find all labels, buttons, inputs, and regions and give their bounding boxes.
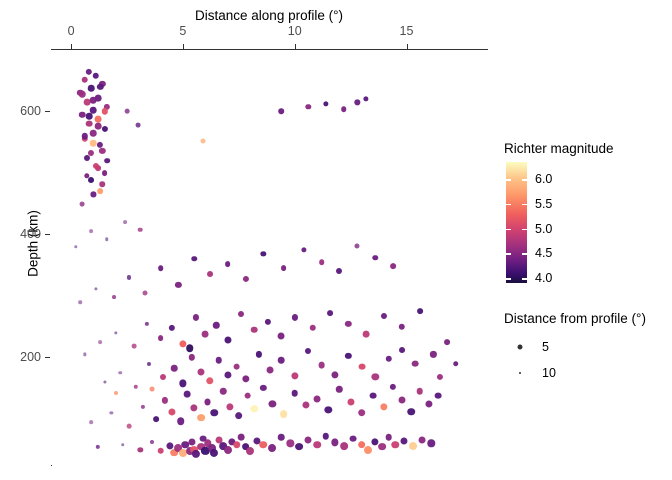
data-point — [110, 411, 113, 414]
data-point — [78, 300, 82, 304]
data-point — [190, 404, 197, 411]
data-point — [292, 314, 298, 320]
data-point — [158, 335, 164, 341]
data-point — [246, 447, 254, 455]
data-point — [412, 360, 419, 367]
data-point — [213, 322, 219, 328]
colorbar-tick-label: 6.0 — [535, 172, 552, 186]
data-point — [136, 123, 141, 128]
data-point — [119, 371, 123, 375]
data-point — [150, 440, 154, 444]
data-point — [145, 321, 149, 325]
data-point — [175, 282, 181, 288]
data-point — [201, 139, 206, 144]
data-point — [224, 446, 232, 454]
colorbar-tick-label: 4.0 — [535, 271, 552, 285]
data-point — [95, 115, 102, 122]
data-point — [434, 392, 441, 399]
size-legend-key-dot — [518, 345, 523, 350]
data-point — [328, 310, 334, 316]
data-point — [242, 375, 249, 382]
data-point — [385, 434, 392, 441]
legend-area: Richter magnitude 6.05.55.04.54.0 Distan… — [497, 0, 672, 480]
data-point — [278, 434, 285, 441]
data-point — [381, 403, 388, 410]
data-point — [267, 366, 274, 373]
data-point — [189, 354, 195, 360]
data-point — [142, 290, 147, 295]
data-point — [225, 261, 231, 267]
data-point — [233, 441, 240, 448]
data-point — [147, 362, 151, 366]
data-point — [399, 397, 406, 404]
size-legend-key: 5 — [506, 334, 656, 360]
colorbar-tick-mark — [506, 278, 511, 280]
data-point — [162, 397, 168, 403]
data-point — [340, 442, 348, 450]
colorbar-tick-mark — [522, 179, 527, 181]
plot-panel — [51, 50, 487, 465]
size-legend-key-dot — [519, 372, 521, 374]
data-point — [88, 177, 94, 183]
data-point — [89, 420, 93, 424]
data-point — [90, 97, 97, 104]
data-point — [224, 337, 231, 344]
data-point — [90, 130, 97, 137]
data-point — [331, 371, 338, 378]
data-point — [309, 325, 316, 332]
data-point — [100, 181, 106, 187]
data-point — [425, 400, 432, 407]
data-point — [158, 265, 164, 271]
data-point — [96, 444, 100, 448]
data-point — [444, 339, 450, 345]
data-point — [102, 170, 108, 176]
data-point — [207, 271, 213, 277]
data-point — [224, 371, 231, 378]
data-point — [349, 435, 356, 442]
data-point — [319, 259, 325, 265]
data-point — [399, 323, 405, 329]
data-point — [370, 392, 377, 399]
data-point — [127, 275, 131, 279]
y-tick-mark — [45, 111, 50, 112]
colorbar-tick-mark — [506, 229, 511, 231]
data-point — [427, 440, 434, 447]
data-point — [84, 155, 90, 161]
data-point — [86, 68, 92, 74]
data-point — [302, 402, 309, 409]
data-point — [347, 398, 354, 405]
data-point — [74, 245, 77, 248]
data-point — [305, 104, 310, 109]
data-point — [385, 355, 391, 361]
data-point — [89, 229, 93, 233]
data-point — [134, 385, 138, 389]
data-point — [392, 441, 399, 448]
colorbar-tick-mark — [522, 253, 527, 255]
x-tick-label: 0 — [68, 24, 75, 38]
data-point — [453, 361, 459, 367]
data-point — [169, 325, 175, 331]
data-point — [260, 385, 266, 391]
data-point — [191, 256, 196, 261]
data-point — [261, 251, 266, 256]
data-point — [355, 243, 360, 248]
data-point — [188, 439, 195, 446]
data-point — [269, 400, 276, 407]
data-point — [358, 363, 365, 370]
data-point — [242, 276, 248, 282]
data-point — [103, 380, 106, 383]
data-point — [238, 311, 244, 317]
data-point — [233, 363, 240, 370]
data-point — [204, 398, 211, 405]
data-point — [168, 408, 175, 415]
data-point — [79, 111, 86, 118]
data-point — [83, 99, 90, 106]
size-legend-key: 10 — [506, 360, 656, 386]
data-point — [157, 448, 164, 455]
data-point — [114, 391, 118, 395]
data-point — [372, 373, 379, 380]
data-point — [314, 396, 321, 403]
data-point — [210, 409, 217, 416]
data-point — [355, 100, 360, 105]
data-point — [114, 331, 117, 334]
data-point — [105, 238, 109, 242]
data-point — [98, 340, 102, 344]
y-tick-mark — [45, 234, 50, 235]
data-point — [363, 331, 370, 338]
data-point — [251, 405, 258, 412]
y-tick-label: 400 — [3, 227, 41, 241]
data-point — [104, 158, 110, 164]
data-point — [365, 446, 373, 454]
data-point — [341, 106, 347, 112]
data-point — [281, 265, 287, 271]
data-point — [390, 264, 396, 270]
x-tick-label: 5 — [179, 24, 186, 38]
data-point — [313, 441, 321, 449]
data-point — [381, 313, 387, 319]
data-point — [179, 380, 186, 387]
data-point — [378, 443, 386, 451]
data-point — [291, 372, 298, 379]
data-point — [94, 287, 97, 290]
data-point — [95, 123, 102, 130]
data-point — [171, 365, 178, 372]
x-axis-title: Distance along profile (°) — [0, 8, 538, 23]
data-point — [184, 391, 191, 398]
data-point — [149, 387, 154, 392]
data-point — [278, 332, 285, 339]
data-point — [125, 109, 130, 114]
data-point — [364, 97, 369, 102]
data-point — [372, 255, 377, 260]
colorbar-tick-label: 5.5 — [535, 197, 552, 211]
data-point — [430, 351, 436, 357]
colorbar-tick-mark — [506, 204, 511, 206]
data-point — [192, 450, 200, 458]
data-point — [86, 113, 93, 120]
data-point — [102, 126, 108, 132]
data-point — [238, 434, 245, 441]
data-point — [279, 109, 285, 115]
data-point — [99, 148, 105, 154]
data-point — [177, 418, 185, 426]
data-point — [160, 374, 166, 380]
data-point — [206, 377, 213, 384]
data-point — [244, 392, 251, 399]
data-point — [390, 384, 396, 390]
size-legend-key-label: 5 — [542, 334, 549, 360]
data-point — [202, 331, 209, 338]
data-point — [141, 404, 145, 408]
data-point — [86, 120, 93, 127]
colorbar-tick-mark — [522, 278, 527, 280]
data-point — [138, 227, 143, 232]
y-axis-title: Depth (km) — [26, 164, 41, 324]
data-point — [131, 344, 136, 349]
colorbar-tick-mark — [522, 229, 527, 231]
size-legend-key-glyph — [506, 360, 534, 386]
data-point — [305, 348, 311, 354]
data-point — [79, 91, 86, 98]
data-point — [121, 443, 125, 447]
data-point — [331, 439, 338, 446]
data-point — [280, 410, 288, 418]
data-point — [268, 444, 276, 452]
data-point — [318, 361, 325, 368]
data-point — [220, 388, 227, 395]
data-point — [323, 101, 328, 106]
colorbar-tick-mark — [522, 204, 527, 206]
data-point — [251, 326, 258, 333]
data-point — [401, 437, 408, 444]
data-point — [437, 374, 443, 380]
data-point — [97, 84, 103, 90]
data-point — [90, 140, 97, 147]
colorbar-tick-label: 4.5 — [535, 246, 552, 260]
data-point — [278, 357, 285, 364]
data-point — [83, 353, 86, 356]
data-point — [417, 308, 423, 314]
data-point — [92, 73, 99, 80]
seismicity-cross-section-figure: Distance along profile (°) Depth (km) 05… — [0, 0, 672, 480]
data-point — [265, 319, 271, 325]
data-point — [409, 442, 417, 450]
data-point — [81, 76, 88, 83]
data-point — [417, 388, 424, 395]
data-point — [197, 369, 204, 376]
data-point — [97, 189, 103, 195]
data-point — [127, 424, 132, 429]
colorbar-tick-mark — [506, 253, 511, 255]
y-tick-label: 200 — [3, 350, 41, 364]
data-point — [91, 192, 96, 197]
data-point — [256, 351, 262, 357]
color-legend-title: Richter magnitude — [504, 141, 614, 156]
data-point — [287, 440, 294, 447]
data-point — [419, 436, 426, 443]
data-point — [336, 268, 342, 274]
data-point — [80, 201, 85, 206]
data-point — [88, 85, 95, 92]
data-point — [197, 414, 205, 422]
data-point — [305, 436, 312, 443]
x-tick-label: 15 — [400, 24, 414, 38]
data-point — [345, 353, 351, 359]
data-point — [295, 443, 303, 451]
data-point — [301, 247, 306, 252]
data-point — [336, 386, 342, 392]
data-point — [399, 347, 405, 353]
data-point — [260, 441, 268, 449]
data-point — [323, 433, 329, 439]
size-legend-key-label: 10 — [542, 360, 556, 386]
data-point — [226, 403, 233, 410]
data-point — [235, 412, 243, 420]
data-point — [215, 357, 222, 364]
data-point — [407, 408, 415, 416]
data-point — [153, 416, 159, 422]
y-tick-label: 600 — [3, 104, 41, 118]
colorbar-tick-mark — [506, 179, 511, 181]
data-point — [291, 390, 298, 397]
data-point — [193, 314, 199, 320]
data-point — [101, 108, 107, 114]
data-point — [325, 406, 332, 413]
data-point — [186, 344, 194, 352]
colorbar-tick-label: 5.0 — [535, 222, 552, 236]
x-tick-label: 10 — [288, 24, 302, 38]
data-point — [358, 409, 366, 417]
y-tick-mark — [45, 357, 50, 358]
data-point — [112, 295, 116, 299]
data-point — [123, 220, 127, 224]
size-legend-key-glyph — [506, 334, 534, 360]
data-point — [210, 449, 218, 457]
data-point — [345, 320, 351, 326]
size-legend-title: Distance from profile (°) — [504, 311, 646, 326]
data-point — [138, 447, 143, 452]
data-point — [90, 107, 97, 114]
